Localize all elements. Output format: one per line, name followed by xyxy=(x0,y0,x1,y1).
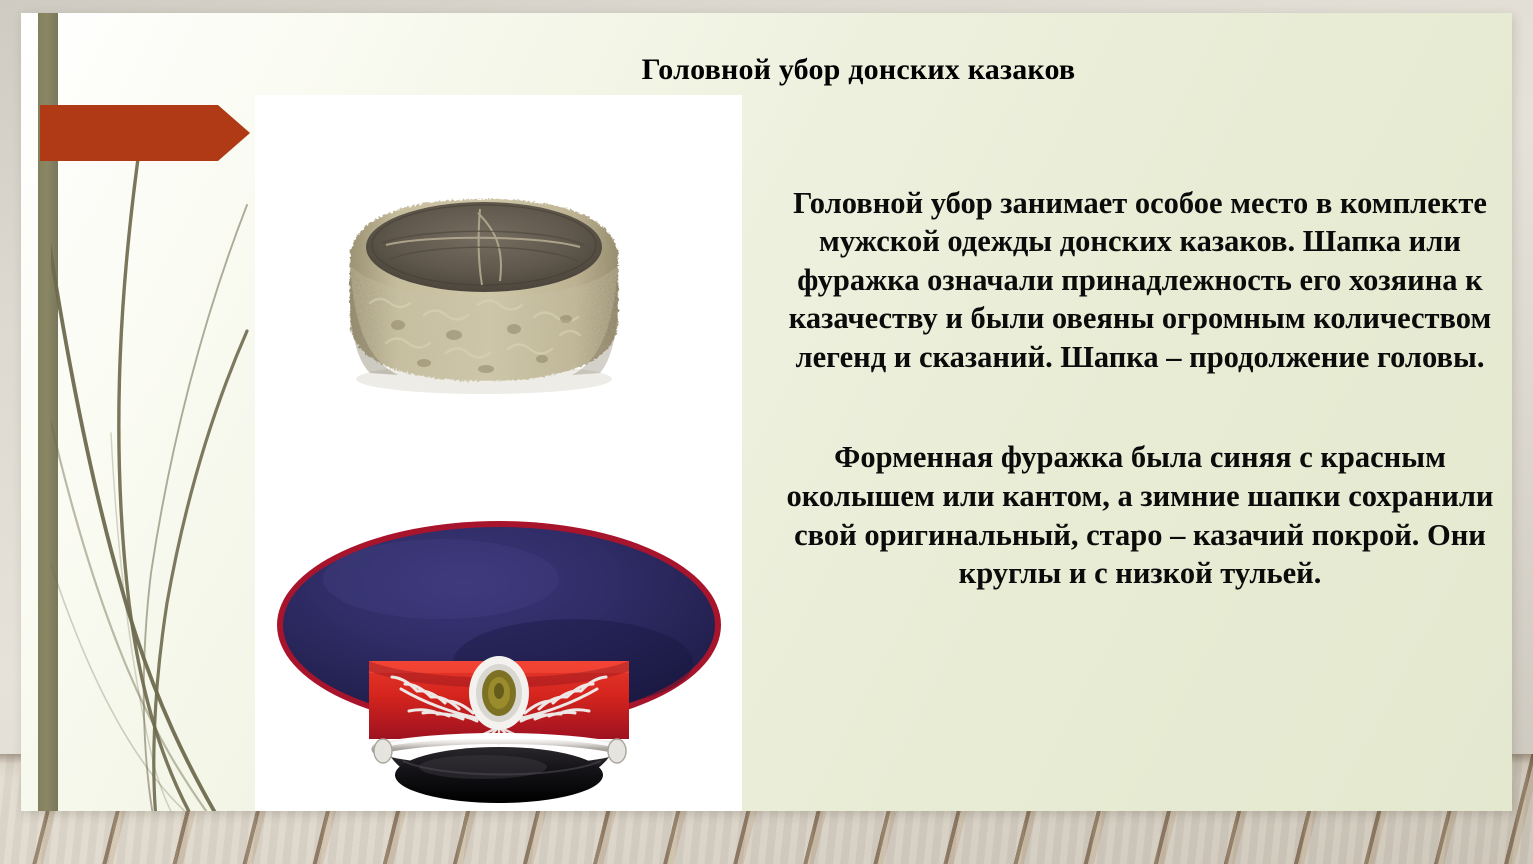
image-panel xyxy=(255,95,742,811)
body-text-column: Головной убор занимает особое место в ко… xyxy=(769,153,1511,623)
presentation-slide: Головной убор донских казаков xyxy=(21,13,1512,811)
red-arrow-banner xyxy=(40,102,250,164)
paragraph-2: Форменная фуражка была синяя с красным о… xyxy=(769,438,1511,592)
cap-cockade xyxy=(469,656,529,730)
page-title: Головной убор донских казаков xyxy=(321,53,1396,86)
paragraph-1: Головной убор занимает особое место в ко… xyxy=(769,184,1511,377)
papakha-fur-hat-image xyxy=(328,173,640,408)
cossack-peaked-cap-image xyxy=(273,513,725,803)
slide-viewport: Головной убор донских казаков xyxy=(0,0,1533,864)
